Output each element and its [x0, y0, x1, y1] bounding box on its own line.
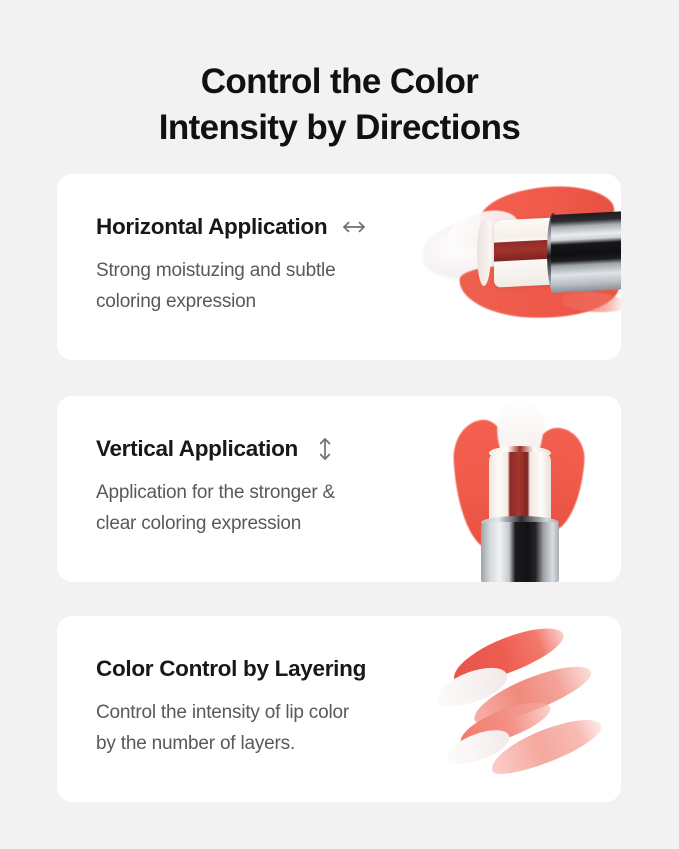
card-description-line-1: Application for the stronger & [96, 477, 456, 508]
lipstick-tube [551, 211, 621, 293]
card-description: Application for the stronger & clear col… [96, 477, 456, 539]
lipstick-bullet-edge [477, 219, 491, 287]
horizontal-lipstick-image [421, 174, 621, 360]
card-heading: Color Control by Layering [96, 654, 456, 684]
lipstick-tube [481, 522, 559, 582]
feature-card-color-control-by-layering: Color Control by Layering Control the in… [57, 616, 621, 802]
page-title-line-1: Control the Color [0, 59, 679, 105]
layered-swatches-image [433, 616, 609, 802]
card-heading-label: Color Control by Layering [96, 654, 366, 684]
card-description-line-2: by the number of layers. [96, 728, 456, 759]
card-heading-label: Vertical Application [96, 434, 298, 464]
card-text-block: Horizontal Application Strong moistuzing… [96, 212, 456, 317]
vertical-lipstick-image [437, 396, 621, 582]
page-title: Control the Color Intensity by Direction… [0, 59, 679, 151]
card-description-line-1: Strong moistuzing and subtle [96, 255, 456, 286]
page-title-line-2: Intensity by Directions [0, 105, 679, 151]
feature-card-horizontal-application: Horizontal Application Strong moistuzing… [57, 174, 621, 360]
card-description: Control the intensity of lip color by th… [96, 697, 456, 759]
card-text-block: Vertical Application Application for the… [96, 434, 456, 539]
card-description-line-2: clear coloring expression [96, 508, 456, 539]
card-text-block: Color Control by Layering Control the in… [96, 654, 456, 759]
card-description: Strong moistuzing and subtle coloring ex… [96, 255, 456, 317]
card-description-line-2: coloring expression [96, 286, 456, 317]
product-feature-page: Control the Color Intensity by Direction… [0, 0, 679, 849]
card-heading: Vertical Application [96, 434, 456, 464]
horizontal-double-arrow-icon [341, 214, 367, 240]
feature-card-vertical-application: Vertical Application Application for the… [57, 396, 621, 582]
card-heading: Horizontal Application [96, 212, 456, 242]
card-heading-label: Horizontal Application [96, 212, 327, 242]
vertical-double-arrow-icon [312, 436, 338, 462]
card-description-line-1: Control the intensity of lip color [96, 697, 456, 728]
